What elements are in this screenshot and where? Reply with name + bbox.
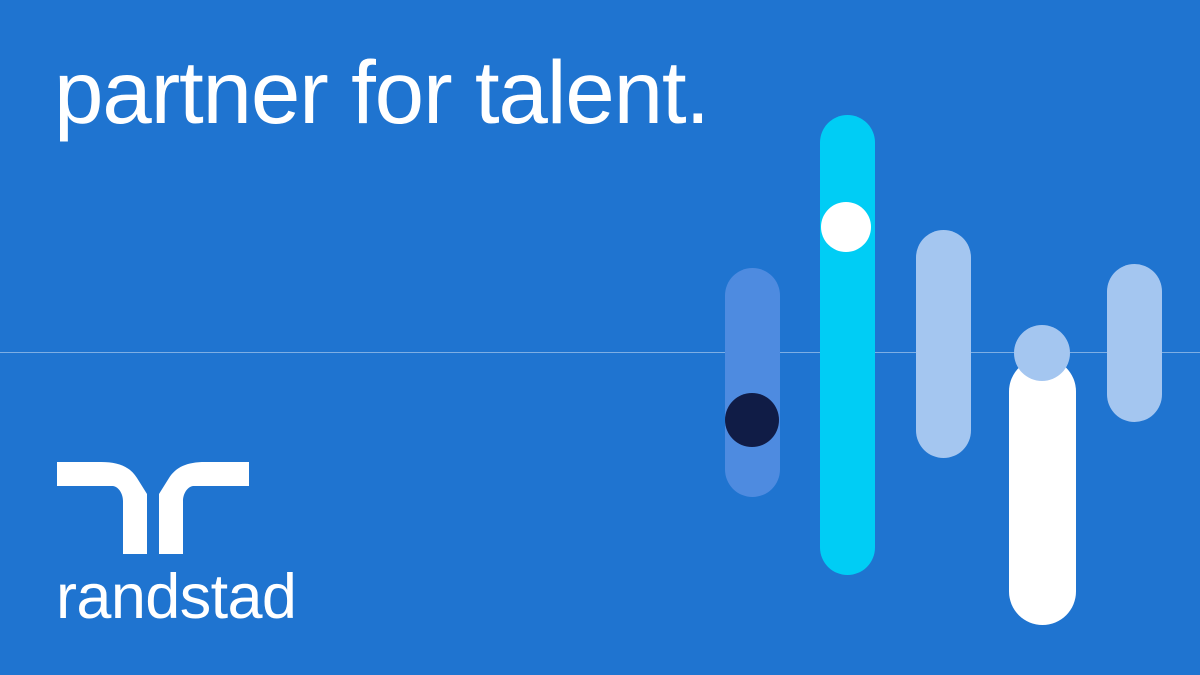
baseline-rule [0,352,1200,353]
brand-wordmark: randstad [56,566,296,629]
poster-canvas: partner for talent. randstad [0,0,1200,675]
randstad-tuning-fork-icon [57,458,249,554]
brand-lockup: randstad [57,458,317,630]
page-title: partner for talent. [54,48,709,137]
